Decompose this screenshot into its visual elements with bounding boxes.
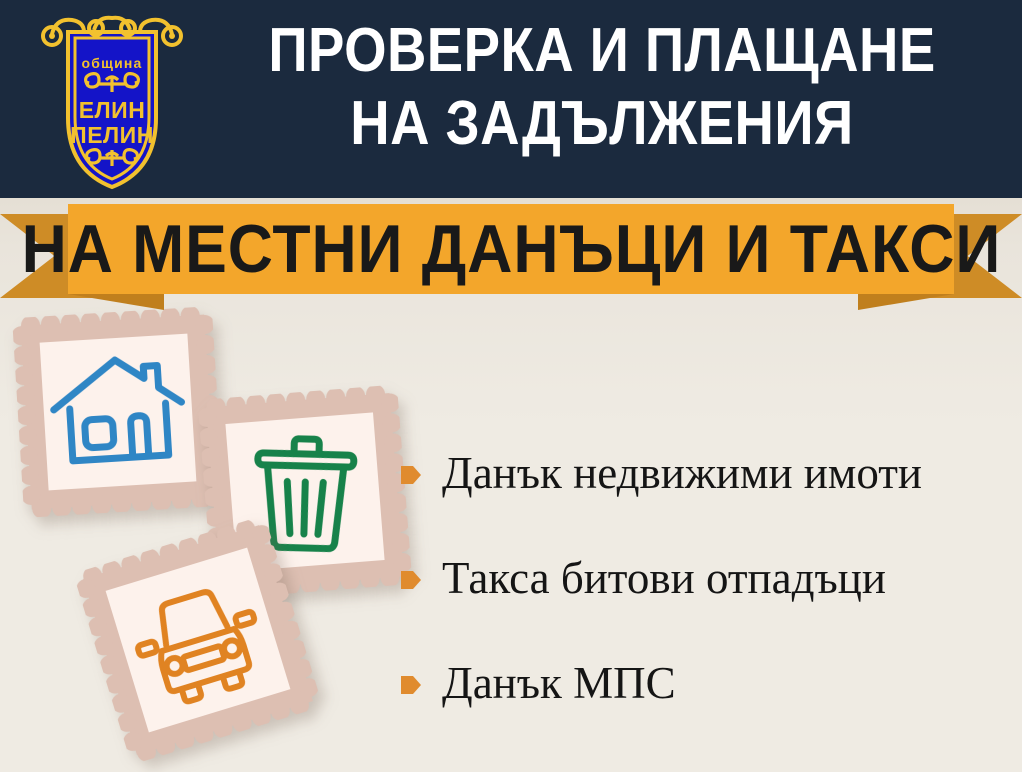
page-title-line2: НА ЗАДЪЛЖЕНИЯ [245, 87, 960, 160]
list-item-label: Такса битови отпадъци [442, 553, 886, 603]
list-item[interactable]: Данък недвижими имоти [400, 420, 1010, 525]
list-item-label: Данък недвижими имоти [442, 448, 922, 498]
coat-of-arms-shield-icon: община ЕЛИН ПЕЛИН [32, 6, 192, 192]
list-item-label: Данък МПС [442, 658, 676, 708]
crest-municipality-word: община [81, 55, 142, 71]
arrow-right-pentagon-icon [400, 463, 422, 487]
crest-name-line1: ЕЛИН [79, 97, 146, 123]
header-bar: община ЕЛИН ПЕЛИН [0, 0, 1022, 198]
services-list: Данък недвижими имоти Такса битови отпад… [400, 420, 1010, 735]
subtitle-ribbon: НА МЕСТНИ ДАНЪЦИ И ТАКСИ [0, 198, 1022, 310]
arrow-right-pentagon-icon [400, 673, 422, 697]
ribbon-fold-left [68, 294, 164, 310]
page-title: ПРОВЕРКА И ПЛАЩАНЕ НА ЗАДЪЛЖЕНИЯ [245, 14, 960, 160]
arrow-right-pentagon-icon [400, 568, 422, 592]
list-item[interactable]: Такса битови отпадъци [400, 525, 1010, 630]
crest-name-line2: ПЕЛИН [70, 122, 154, 148]
ribbon-fold-right [858, 294, 954, 310]
ribbon-label: НА МЕСТНИ ДАНЪЦИ И ТАКСИ [21, 214, 1001, 284]
list-item[interactable]: Данък МПС [400, 630, 1010, 735]
ribbon-banner: НА МЕСТНИ ДАНЪЦИ И ТАКСИ [68, 204, 954, 294]
page-title-line1: ПРОВЕРКА И ПЛАЩАНЕ [245, 14, 960, 87]
poster-root: община ЕЛИН ПЕЛИН [0, 0, 1022, 772]
stamp-card-house [12, 306, 224, 518]
